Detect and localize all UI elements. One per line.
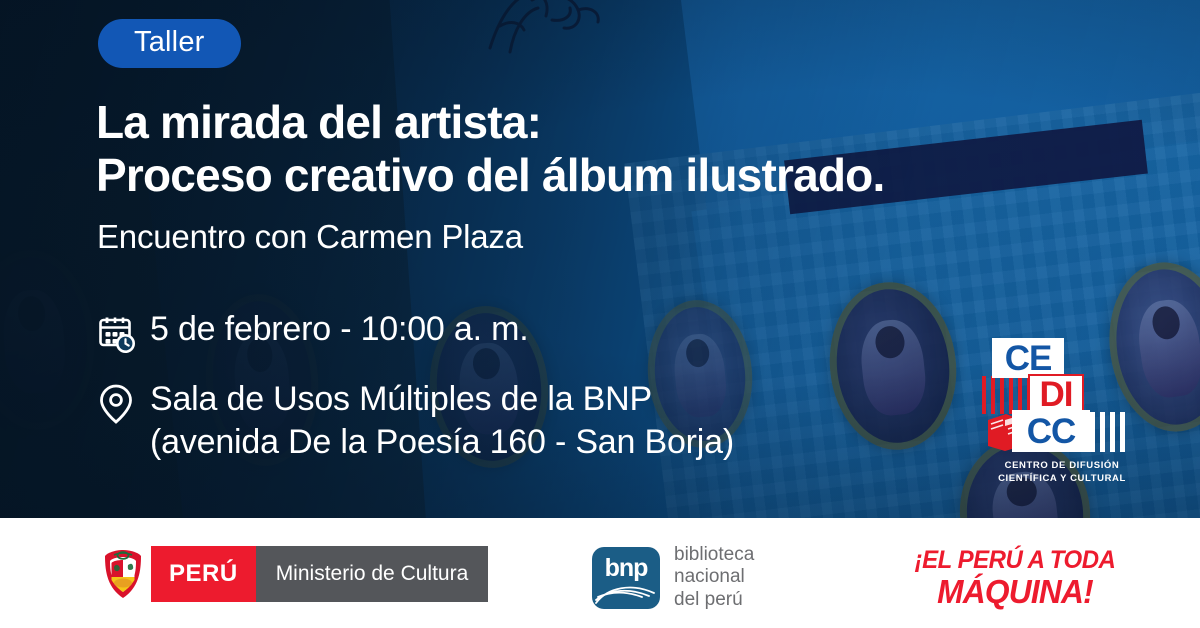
event-date-row: 5 de febrero - 10:00 a. m.	[96, 312, 996, 356]
ministry-label: Ministerio de Cultura	[256, 546, 489, 602]
cedicc-logo: CE DI CC CENTRO DE DIFUSIÓN CIENTÍFICA Y…	[978, 338, 1130, 486]
page-subtitle: Encuentro con Carmen Plaza	[97, 218, 523, 256]
cedicc-white-stripes	[1090, 412, 1128, 452]
location-line-1: Sala de Usos Múltiples de la BNP	[150, 378, 734, 421]
title-line-1: La mirada del artista:	[96, 96, 1126, 149]
cedicc-block-di: DI	[1028, 374, 1084, 414]
event-details: 5 de febrero - 10:00 a. m. Sala de Usos …	[96, 312, 996, 490]
category-badge: Taller	[98, 19, 241, 68]
bnp-mark-icon: bnp	[592, 547, 660, 609]
poster-content: Taller La mirada del artista: Proceso cr…	[0, 0, 1200, 518]
bnp-word-line-2: nacional	[674, 566, 754, 588]
cedicc-tagline-line-1: CENTRO DE DIFUSIÓN	[994, 460, 1130, 473]
bnp-word-line-1: biblioteca	[674, 544, 754, 566]
bnp-logo: bnp biblioteca nacional del perú	[592, 544, 754, 611]
campaign-slogan: ¡EL PERÚ A TODA MÁQUINA!	[900, 548, 1130, 608]
bnp-word-line-3: del perú	[674, 589, 754, 611]
cedicc-block-cc: CC	[1012, 410, 1090, 452]
bnp-wordmark: biblioteca nacional del perú	[674, 544, 754, 611]
peru-coat-of-arms-icon	[95, 546, 151, 602]
slogan-line-1: ¡EL PERÚ A TODA	[905, 548, 1126, 573]
event-date-text: 5 de febrero - 10:00 a. m.	[144, 308, 528, 351]
page-title: La mirada del artista: Proceso creativo …	[96, 96, 1126, 203]
cedicc-lettermark: CE DI CC	[978, 338, 1130, 456]
cedicc-tagline-line-2: CIENTÍFICA Y CULTURAL	[994, 473, 1130, 486]
cedicc-block-ce: CE	[992, 338, 1064, 378]
cedicc-red-stripes	[982, 376, 1028, 414]
location-pin-icon	[96, 382, 144, 426]
government-logo: PERÚ Ministerio de Cultura	[95, 546, 488, 602]
slogan-line-2: MÁQUINA!	[905, 575, 1126, 608]
event-location-text: Sala de Usos Múltiples de la BNP (avenid…	[144, 378, 734, 464]
event-location-row: Sala de Usos Múltiples de la BNP (avenid…	[96, 382, 996, 464]
title-line-2: Proceso creativo del álbum ilustrado.	[96, 149, 1126, 202]
location-line-2: (avenida De la Poesía 160 - San Borja)	[150, 421, 734, 464]
event-poster: Taller La mirada del artista: Proceso cr…	[0, 0, 1200, 628]
peru-label: PERÚ	[151, 546, 256, 602]
cedicc-tagline: CENTRO DE DIFUSIÓN CIENTÍFICA Y CULTURAL	[978, 460, 1130, 486]
footer-bar: PERÚ Ministerio de Cultura bnp bibliotec…	[0, 518, 1200, 628]
calendar-clock-icon	[96, 312, 144, 356]
